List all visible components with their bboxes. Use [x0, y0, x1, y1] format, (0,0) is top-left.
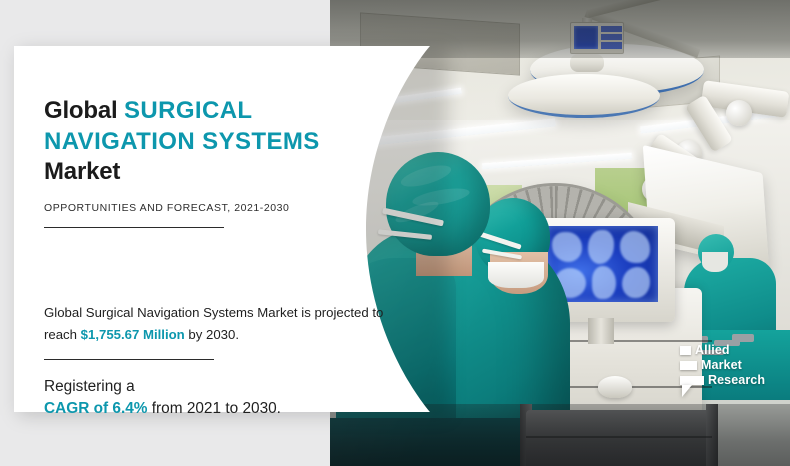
base-panel-line — [526, 436, 712, 438]
market-value-statement: Global Surgical Navigation Systems Marke… — [44, 302, 396, 345]
cart-column — [706, 404, 718, 466]
scan-image — [592, 266, 616, 299]
background-surgeon-mask — [702, 252, 728, 272]
logo-text-research: Research — [708, 374, 765, 387]
logo-bar-icon — [680, 346, 691, 355]
cagr-value: CAGR of 6.4% — [44, 400, 147, 417]
logo-text-allied: Allied — [695, 344, 730, 357]
scan-image — [620, 231, 650, 263]
second-surgeon-mask — [488, 262, 544, 288]
title-suffix: Market — [44, 158, 120, 185]
foreground-floor — [330, 418, 530, 466]
ceiling-arm-joint — [726, 100, 752, 126]
logo-bar-icon — [680, 361, 697, 370]
page-title: Global SURGICAL NAVIGATION SYSTEMS Marke… — [44, 96, 396, 188]
cagr-statement: Registering aCAGR of 6.4% from 2021 to 2… — [44, 376, 396, 420]
logo-line-2: Market — [680, 359, 742, 372]
allied-market-research-logo: Allied Market Research — [676, 341, 768, 399]
monitor-stand — [588, 318, 614, 344]
scan-image — [552, 232, 582, 262]
scan-image — [588, 230, 614, 264]
logo-line-1: Allied — [680, 344, 730, 357]
cagr-trail: from 2021 to 2030. — [147, 400, 280, 417]
logo-line-3: Research — [680, 374, 765, 387]
cart-mouse — [598, 376, 632, 398]
content-block: Global SURGICAL NAVIGATION SYSTEMS Marke… — [44, 96, 396, 420]
subtitle: OPPORTUNITIES AND FORECAST, 2021-2030 — [44, 202, 396, 214]
surgical-lamp-2 — [508, 74, 660, 118]
cagr-lead: Registering a — [44, 376, 396, 398]
title-prefix: Global — [44, 97, 124, 124]
logo-bar-icon — [680, 376, 704, 385]
lamp-hub — [570, 54, 604, 72]
control-display — [574, 26, 598, 49]
equipment-base — [526, 410, 712, 466]
statement-trail: by 2030. — [185, 327, 239, 342]
logo-speech-tail-icon — [682, 385, 692, 397]
infographic-banner: Global SURGICAL NAVIGATION SYSTEMS Marke… — [0, 0, 790, 466]
logo-text-market: Market — [701, 359, 742, 372]
market-value: $1,755.67 Million — [81, 327, 185, 342]
scan-image — [622, 267, 650, 298]
divider-top — [44, 227, 224, 228]
control-buttons — [601, 26, 622, 49]
divider-middle — [44, 359, 214, 360]
